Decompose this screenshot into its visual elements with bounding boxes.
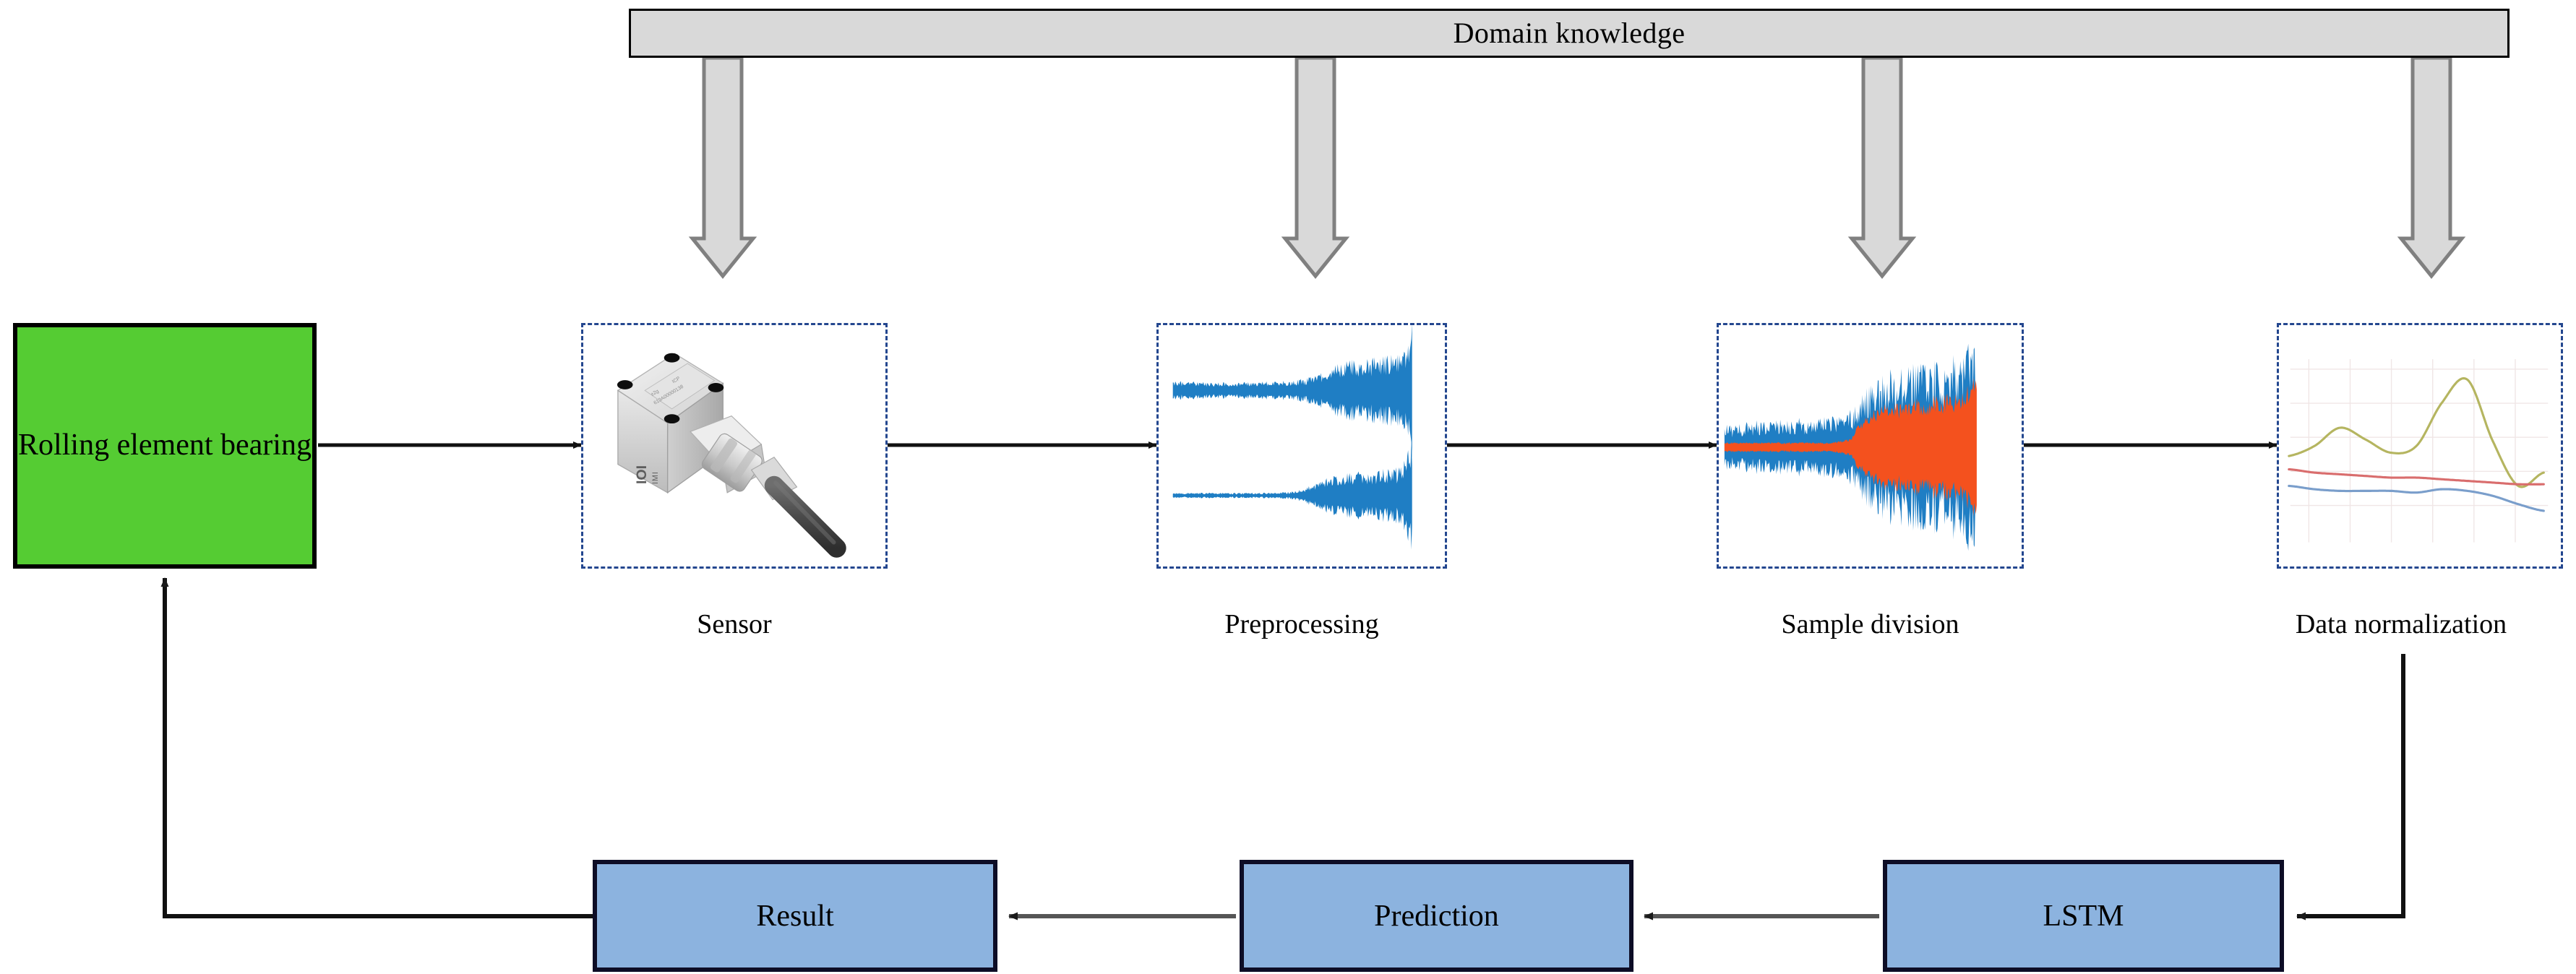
block-arrow-to-data-normalization [2401, 58, 2462, 276]
sample-division-caption: Sample division [1684, 611, 2056, 638]
sample-division-stage-box[interactable] [1717, 323, 2024, 569]
data-normalization-caption: Data normalization [2226, 611, 2576, 638]
svg-text:IMI: IMI [651, 471, 660, 484]
block-arrow-to-sensor [692, 58, 753, 276]
accelerometer-icon: ±2g ICP 613A00000138 IOI IMI [583, 325, 885, 566]
rolling-element-bearing-label: Rolling element bearing [18, 428, 312, 464]
block-arrow-to-sample-division [1852, 58, 1912, 276]
preprocessing-waveform-chart [1159, 325, 1445, 566]
lstm-label: LSTM [2043, 901, 2124, 931]
rolling-element-bearing-box[interactable]: Rolling element bearing [13, 323, 317, 569]
connector-result-to-bearing [165, 578, 593, 916]
lstm-box[interactable]: LSTM [1883, 860, 2284, 972]
result-box[interactable]: Result [593, 860, 997, 972]
data-normalization-line-chart [2279, 325, 2561, 566]
svg-text:IOI: IOI [634, 465, 650, 484]
chart-gridlines [2291, 359, 2549, 542]
waveform-series-vertical [1173, 441, 1412, 550]
connector-normalization-to-lstm [2297, 654, 2403, 916]
result-label: Result [756, 901, 833, 931]
sensor-stage-box[interactable]: ±2g ICP 613A00000138 IOI IMI [581, 323, 888, 569]
domain-knowledge-banner: Domain knowledge [629, 9, 2510, 58]
data-normalization-stage-box[interactable] [2277, 323, 2563, 569]
preprocessing-caption: Preprocessing [1128, 611, 1476, 638]
feature-1-line [2289, 379, 2544, 487]
feature-3-line [2289, 486, 2544, 511]
prediction-label: Prediction [1374, 901, 1499, 931]
flowchart-canvas: Domain knowledge Rolling element bearing [0, 0, 2576, 974]
preprocessing-stage-box[interactable] [1156, 323, 1447, 569]
prediction-box[interactable]: Prediction [1240, 860, 1633, 972]
sample-division-waveform-chart [1719, 325, 2022, 566]
domain-knowledge-label: Domain knowledge [1454, 19, 1686, 48]
sensor-caption: Sensor [581, 611, 888, 638]
block-arrow-to-preprocessing [1285, 58, 1346, 276]
waveform-series-horizontal [1173, 325, 1412, 457]
